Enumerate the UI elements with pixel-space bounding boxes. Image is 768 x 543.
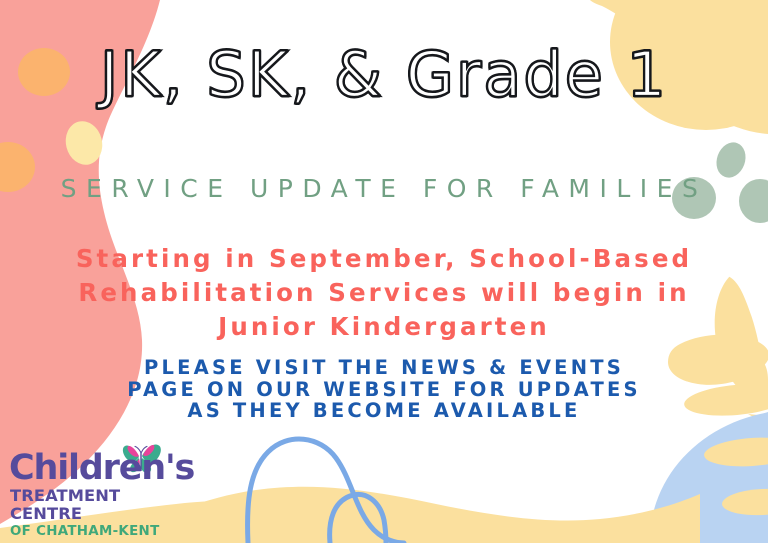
call-to-action-line: PLEASE VISIT THE NEWS & EVENTS bbox=[0, 357, 768, 379]
subtitle-kicker: SERVICE UPDATE FOR FAMILIES bbox=[0, 174, 768, 203]
poster-content: JK, SK, & Grade 1 SERVICE UPDATE FOR FAM… bbox=[0, 0, 768, 543]
logo-wordmark: Children's bbox=[9, 450, 186, 486]
announcement-line: Rehabilitation Services will begin in bbox=[0, 276, 768, 310]
announcement-block: Starting in September, School-Based Reha… bbox=[0, 242, 768, 344]
logo-line-chatham-kent: OF CHATHAM-KENT bbox=[10, 524, 186, 540]
announcement-line: Junior Kindergarten bbox=[0, 310, 768, 344]
call-to-action-block: PLEASE VISIT THE NEWS & EVENTS PAGE ON O… bbox=[0, 357, 768, 422]
call-to-action-line: PAGE ON OUR WEBSITE FOR UPDATES bbox=[0, 379, 768, 401]
organization-logo: Children's TREATMENT CENTRE OF CHATHAM-K… bbox=[8, 450, 186, 543]
poster-canvas: JK, SK, & Grade 1 SERVICE UPDATE FOR FAM… bbox=[0, 0, 768, 543]
logo-line-treatment-centre: TREATMENT CENTRE bbox=[10, 487, 186, 523]
call-to-action-line: AS THEY BECOME AVAILABLE bbox=[0, 400, 768, 422]
announcement-line: Starting in September, School-Based bbox=[0, 242, 768, 276]
page-title: JK, SK, & Grade 1 bbox=[0, 44, 768, 106]
